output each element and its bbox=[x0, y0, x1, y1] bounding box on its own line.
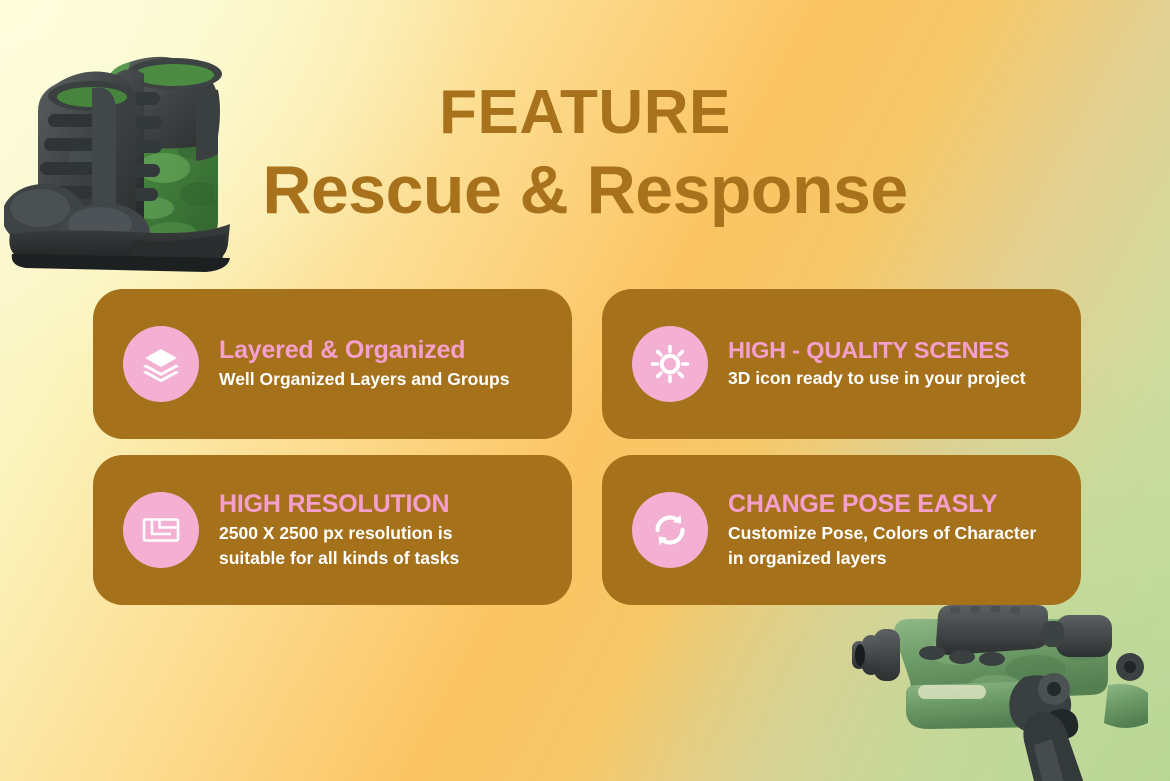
card-text-block: CHANGE POSE EASLY Customize Pose, Colors… bbox=[728, 490, 1036, 571]
rifle-3d bbox=[846, 589, 1170, 781]
resize-frame-icon bbox=[123, 492, 199, 568]
layers-icon bbox=[123, 326, 199, 402]
card-text-block: Layered & Organized Well Organized Layer… bbox=[219, 336, 509, 392]
card-text-block: HIGH RESOLUTION 2500 X 2500 px resolutio… bbox=[219, 490, 459, 571]
card-description: Well Organized Layers and Groups bbox=[219, 367, 509, 392]
card-text-block: HIGH - QUALITY SCENES 3D icon ready to u… bbox=[728, 337, 1026, 391]
card-description-line: in organized layers bbox=[728, 546, 1036, 571]
card-description-line: 2500 X 2500 px resolution is bbox=[219, 521, 459, 546]
card-description-line: Well Organized Layers and Groups bbox=[219, 367, 509, 392]
feature-card-change-pose[interactable]: CHANGE POSE EASLY Customize Pose, Colors… bbox=[602, 455, 1081, 605]
feature-banner: FEATURE Rescue & Response Layered & Orga… bbox=[0, 0, 1170, 781]
refresh-sync-icon bbox=[632, 492, 708, 568]
card-description-line: Customize Pose, Colors of Character bbox=[728, 521, 1036, 546]
card-title: HIGH RESOLUTION bbox=[219, 490, 459, 518]
feature-card-high-resolution[interactable]: HIGH RESOLUTION 2500 X 2500 px resolutio… bbox=[93, 455, 572, 605]
card-description: 3D icon ready to use in your project bbox=[728, 366, 1026, 391]
combat-boots-3d bbox=[4, 18, 266, 276]
feature-card-grid: Layered & Organized Well Organized Layer… bbox=[93, 289, 1081, 605]
card-description-line: 3D icon ready to use in your project bbox=[728, 366, 1026, 391]
feature-card-layered-organized[interactable]: Layered & Organized Well Organized Layer… bbox=[93, 289, 572, 439]
feature-card-high-quality-scenes[interactable]: HIGH - QUALITY SCENES 3D icon ready to u… bbox=[602, 289, 1081, 439]
card-title: Layered & Organized bbox=[219, 336, 509, 364]
card-title: HIGH - QUALITY SCENES bbox=[728, 337, 1026, 363]
card-description: Customize Pose, Colors of Character in o… bbox=[728, 521, 1036, 571]
card-description: 2500 X 2500 px resolution is suitable fo… bbox=[219, 521, 459, 571]
card-description-line: suitable for all kinds of tasks bbox=[219, 546, 459, 571]
sun-icon bbox=[632, 326, 708, 402]
card-title: CHANGE POSE EASLY bbox=[728, 490, 1036, 518]
